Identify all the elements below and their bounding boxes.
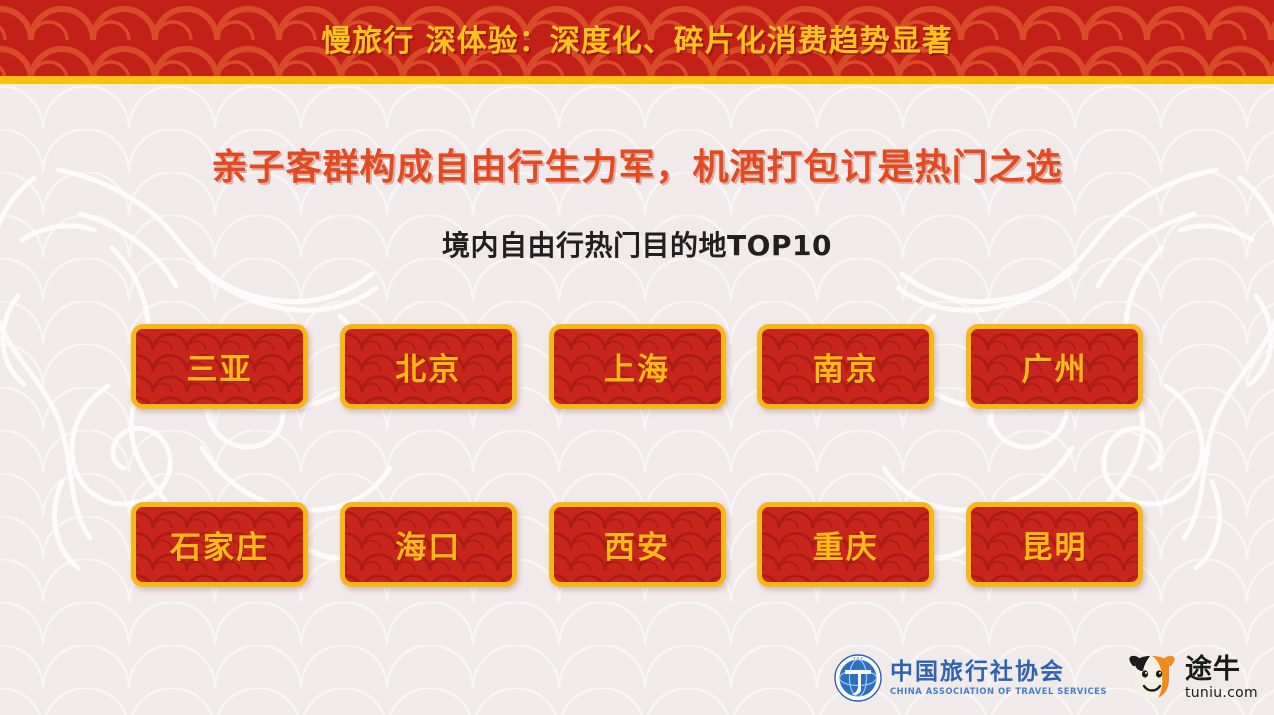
cow-mascot-icon	[1125, 653, 1179, 703]
cats-name-cn: 中国旅行社协会	[890, 661, 1107, 684]
globe-emblem-icon: ★ ★ ★	[834, 654, 882, 702]
city-card-grid: 三亚 北京 上海 南京 广州 石家庄	[131, 324, 1143, 587]
city-card[interactable]: 上海	[549, 324, 726, 409]
city-card[interactable]: 北京	[340, 324, 517, 409]
city-name-label: 北京	[395, 344, 461, 389]
city-row-1: 三亚 北京 上海 南京 广州	[131, 324, 1143, 409]
tuniu-name-cn: 途牛	[1185, 656, 1258, 683]
city-card[interactable]: 广州	[966, 324, 1143, 409]
city-name-label: 三亚	[187, 344, 253, 389]
city-name-label: 石家庄	[170, 522, 269, 567]
city-card[interactable]: 三亚	[131, 324, 308, 409]
city-card[interactable]: 南京	[757, 324, 934, 409]
footer-logo-group: ★ ★ ★ 中国旅行社协会 CHINA ASSOCIATION OF TRAVE…	[834, 653, 1258, 703]
city-card[interactable]: 石家庄	[131, 502, 308, 587]
slide-canvas: 慢旅行 深体验：深度化、碎片化消费趋势显著 亲子客群构成自由行生力军，机酒打包订…	[0, 0, 1274, 715]
header-banner: 慢旅行 深体验：深度化、碎片化消费趋势显著	[0, 0, 1274, 76]
svg-text:★ ★ ★: ★ ★ ★	[853, 656, 863, 660]
city-name-label: 上海	[604, 344, 670, 389]
section-subtitle: 境内自由行热门目的地TOP10	[0, 224, 1274, 264]
city-name-label: 广州	[1022, 344, 1088, 389]
logo-tuniu: 途牛 tuniu.com	[1125, 653, 1258, 703]
header-title: 慢旅行 深体验：深度化、碎片化消费趋势显著	[0, 0, 1274, 76]
city-name-label: 南京	[813, 344, 879, 389]
tuniu-name-en: tuniu.com	[1185, 686, 1258, 700]
city-card[interactable]: 海口	[340, 502, 517, 587]
city-name-label: 重庆	[813, 522, 879, 567]
city-row-2: 石家庄 海口 西安 重庆 昆明	[131, 502, 1143, 587]
city-name-label: 昆明	[1022, 522, 1088, 567]
city-card[interactable]: 昆明	[966, 502, 1143, 587]
tuniu-logo-text: 途牛 tuniu.com	[1185, 656, 1258, 700]
city-name-label: 海口	[395, 522, 461, 567]
logo-china-association-of-travel-services: ★ ★ ★ 中国旅行社协会 CHINA ASSOCIATION OF TRAVE…	[834, 654, 1107, 702]
header-gold-rule	[0, 76, 1274, 84]
cats-logo-text: 中国旅行社协会 CHINA ASSOCIATION OF TRAVEL SERV…	[890, 661, 1107, 695]
cats-name-en: CHINA ASSOCIATION OF TRAVEL SERVICES	[890, 687, 1107, 695]
city-card[interactable]: 西安	[549, 502, 726, 587]
city-card[interactable]: 重庆	[757, 502, 934, 587]
page-title: 亲子客群构成自由行生力军，机酒打包订是热门之选	[0, 138, 1274, 190]
city-name-label: 西安	[604, 522, 670, 567]
